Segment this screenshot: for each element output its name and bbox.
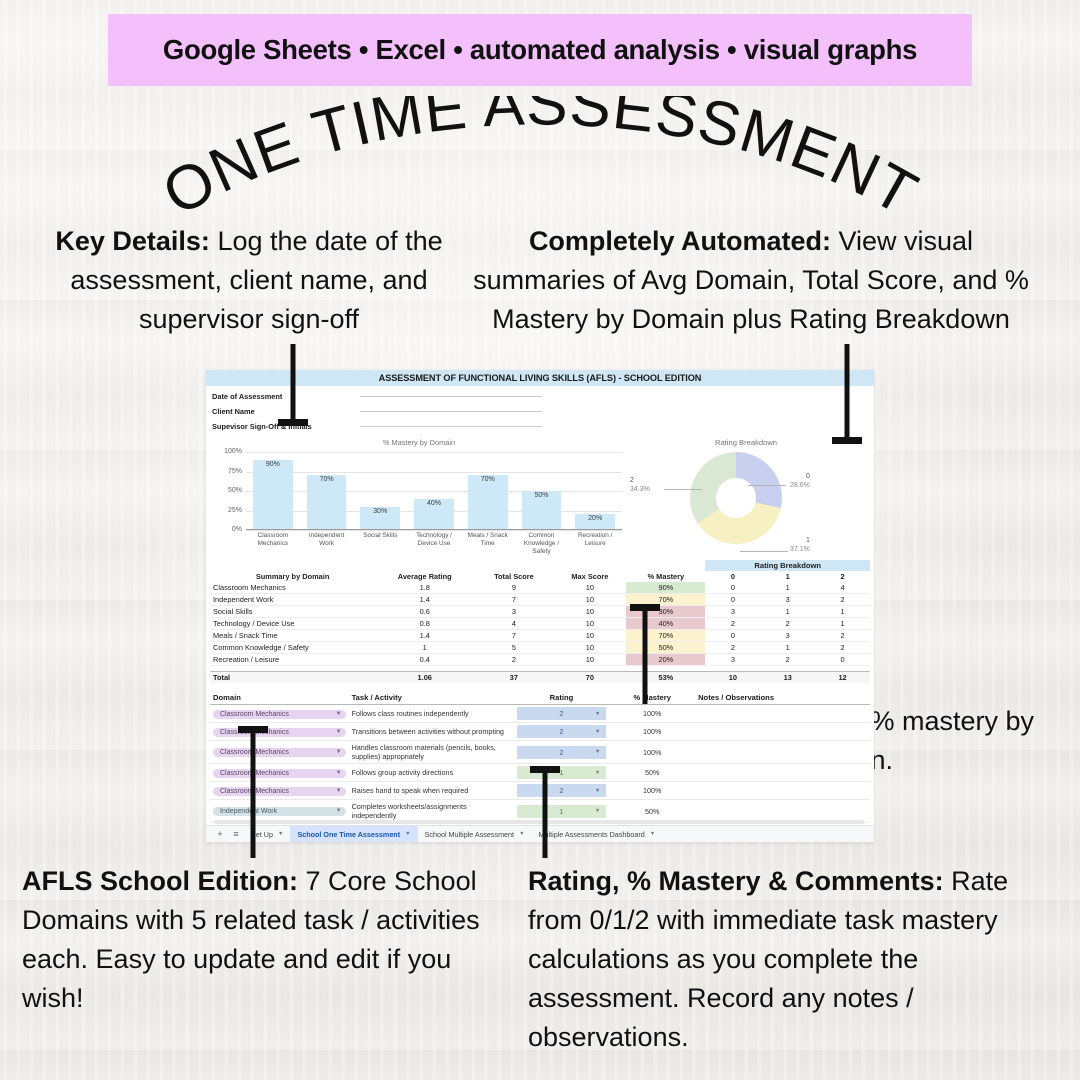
- x-axis-label: Recreation / Leisure: [568, 530, 622, 556]
- summary-cell-r2: 1: [815, 606, 870, 618]
- chevron-down-icon[interactable]: ▼: [336, 711, 342, 717]
- bar: 70%: [468, 475, 508, 530]
- summary-cell-max: 10: [554, 618, 627, 630]
- summary-cell-domain: Common Knowledge / Safety: [210, 642, 375, 654]
- summary-row[interactable]: Technology / Device Use0.841040%221: [210, 618, 870, 630]
- sheet-tab-school-one-time-assessment[interactable]: School One Time Assessment▼: [290, 826, 417, 843]
- pointer-completely-automated: [832, 344, 862, 444]
- task-cell-rating[interactable]: 2▼: [514, 705, 610, 723]
- summary-cell-r1: 1: [760, 642, 815, 654]
- gridline: [246, 530, 622, 531]
- donut-slice-key: 1: [790, 536, 810, 545]
- summary-table: Rating Breakdown Summary by Domain Avera…: [210, 560, 870, 683]
- task-row[interactable]: Classroom Mechanics▼Handles classroom ma…: [210, 741, 870, 764]
- summary-cell-total: 7: [474, 594, 553, 606]
- donut-leader-line: [664, 489, 702, 490]
- bar: 40%: [414, 499, 454, 530]
- y-axis-tick: 75%: [210, 468, 242, 475]
- summary-cell-max: 10: [554, 606, 627, 618]
- rating-value: 2: [559, 748, 563, 757]
- svg-text:ONE TIME ASSESSMENT: ONE TIME ASSESSMENT: [152, 96, 929, 226]
- summary-col-max: Max Score: [554, 571, 627, 582]
- summary-row[interactable]: Recreation / Leisure0.421020%320: [210, 654, 870, 666]
- bar-chart-xlabels: Classroom MechanicsIndependent WorkSocia…: [246, 530, 622, 556]
- summary-cell-r2: 2: [815, 642, 870, 654]
- annotation-key-details-bold: Key Details:: [55, 226, 210, 256]
- info-input-client[interactable]: [360, 411, 542, 412]
- donut-slice-key: 0: [790, 472, 810, 481]
- rating-value: 2: [559, 727, 563, 736]
- summary-cell-r2: 1: [815, 618, 870, 630]
- summary-cell-r2: 0: [815, 654, 870, 666]
- task-cell-mastery: 100%: [609, 741, 695, 764]
- task-cell-activity: Follows class routines independently: [349, 705, 514, 723]
- charts-band: % Mastery by Domain 100%75%50%25%0% 90%7…: [206, 436, 874, 556]
- pointer-key-details: [278, 344, 308, 426]
- summary-cell-domain: Classroom Mechanics: [210, 582, 375, 594]
- task-cell-domain[interactable]: Classroom Mechanics▼: [210, 705, 349, 723]
- bar-cell: 90%: [246, 452, 300, 530]
- summary-cell-max: 10: [554, 582, 627, 594]
- summary-cell-avg: 0.8: [375, 618, 474, 630]
- task-cell-notes[interactable]: [695, 723, 870, 741]
- y-axis-tick: 50%: [210, 487, 242, 494]
- chevron-down-icon[interactable]: ▼: [336, 749, 342, 755]
- summary-row[interactable]: Social Skills0.631030%311: [210, 606, 870, 618]
- summary-table-body: Classroom Mechanics1.891090%014Independe…: [210, 582, 870, 683]
- donut-chart[interactable]: Rating Breakdown 028.6%137.1%234.3%: [628, 436, 864, 556]
- task-cell-notes[interactable]: [695, 782, 870, 800]
- rating-dropdown[interactable]: 2▼: [517, 746, 607, 759]
- banner-text: Google Sheets • Excel • automated analys…: [163, 34, 917, 66]
- task-row[interactable]: Classroom Mechanics▼Follows class routin…: [210, 705, 870, 723]
- annotation-completely-automated: Completely Automated: View visual summar…: [466, 222, 1036, 339]
- summary-cell-r2: 4: [815, 582, 870, 594]
- summary-cell-avg: 1.4: [375, 630, 474, 642]
- summary-cell-total: 7: [474, 630, 553, 642]
- task-col-domain: Domain: [210, 691, 349, 705]
- domain-chip-label: Classroom Mechanics: [220, 711, 289, 718]
- summary-table-wrap: Rating Breakdown Summary by Domain Avera…: [210, 560, 870, 683]
- summary-cell-domain: Recreation / Leisure: [210, 654, 375, 666]
- summary-cell-max: 10: [554, 654, 627, 666]
- chevron-down-icon[interactable]: ▼: [336, 770, 342, 776]
- x-axis-label: Meals / Snack Time: [461, 530, 515, 556]
- chevron-down-icon[interactable]: ▼: [595, 770, 600, 776]
- summary-cell-avg: 1.8: [375, 582, 474, 594]
- summary-row[interactable]: Common Knowledge / Safety151050%212: [210, 642, 870, 654]
- task-cell-activity: Follows group activity directions: [349, 764, 514, 782]
- summary-col-r1: 1: [760, 571, 815, 582]
- chevron-down-icon[interactable]: ▼: [278, 831, 283, 837]
- domain-dropdown-chip[interactable]: Classroom Mechanics▼: [213, 710, 346, 719]
- summary-cell-avg: 1.4: [375, 594, 474, 606]
- total-cell-r2: 12: [815, 672, 870, 684]
- donut-chart-title: Rating Breakdown: [628, 438, 864, 447]
- bar-cell: 40%: [407, 452, 461, 530]
- task-cell-mastery: 100%: [609, 782, 695, 800]
- task-cell-domain[interactable]: Classroom Mechanics▼: [210, 741, 349, 764]
- summary-cell-avg: 0.4: [375, 654, 474, 666]
- top-banner: Google Sheets • Excel • automated analys…: [108, 14, 972, 86]
- summary-col-r0: 0: [705, 571, 760, 582]
- info-input-supervisor[interactable]: [360, 426, 542, 427]
- summary-group-header-row: Rating Breakdown: [210, 560, 870, 571]
- summary-row[interactable]: Meals / Snack Time1.471070%032: [210, 630, 870, 642]
- summary-cell-r0: 3: [705, 654, 760, 666]
- bar: 50%: [522, 491, 562, 530]
- donut-slice-percent: 37.1%: [790, 546, 810, 553]
- x-axis-label: Classroom Mechanics: [246, 530, 300, 556]
- domain-dropdown-chip[interactable]: Classroom Mechanics▼: [213, 769, 346, 778]
- summary-cell-r1: 1: [760, 606, 815, 618]
- summary-cell-avg: 0.6: [375, 606, 474, 618]
- summary-row[interactable]: Independent Work1.471070%032: [210, 594, 870, 606]
- task-cell-domain[interactable]: Classroom Mechanics▼: [210, 764, 349, 782]
- task-cell-rating[interactable]: 2▼: [514, 782, 610, 800]
- summary-cell-max: 10: [554, 594, 627, 606]
- info-row[interactable]: Date of Assessment: [212, 389, 868, 404]
- bar-chart[interactable]: % Mastery by Domain 100%75%50%25%0% 90%7…: [210, 436, 628, 556]
- summary-cell-domain: Independent Work: [210, 594, 375, 606]
- summary-col-r2: 2: [815, 571, 870, 582]
- donut-slice-label: 234.3%: [630, 476, 650, 494]
- task-col-activity: Task / Activity: [349, 691, 514, 705]
- summary-cell-r1: 3: [760, 630, 815, 642]
- pointer-auto-coloring: [630, 604, 660, 704]
- donut-slice-key: 2: [630, 476, 650, 485]
- summary-row[interactable]: Classroom Mechanics1.891090%014: [210, 582, 870, 594]
- domain-dropdown-chip[interactable]: Classroom Mechanics▼: [213, 748, 346, 757]
- summary-col-mastery: % Mastery: [626, 571, 705, 582]
- summary-cell-r0: 0: [705, 594, 760, 606]
- chevron-down-icon[interactable]: ▼: [405, 831, 410, 837]
- task-cell-rating[interactable]: 2▼: [514, 741, 610, 764]
- summary-cell-total: 4: [474, 618, 553, 630]
- bar-chart-title: % Mastery by Domain: [210, 438, 628, 447]
- task-cell-activity: Transitions between activities without p…: [349, 723, 514, 741]
- chevron-down-icon[interactable]: ▼: [595, 808, 600, 814]
- summary-total-row: Total1.06377053%101312: [210, 672, 870, 684]
- bar: 30%: [360, 507, 400, 530]
- x-axis-label: Independent Work: [300, 530, 354, 556]
- bar-cell: 30%: [353, 452, 407, 530]
- bar-chart-bars: 90%70%30%40%70%50%20%: [246, 452, 622, 530]
- chevron-down-icon[interactable]: ▼: [336, 729, 342, 735]
- summary-cell-avg: 1: [375, 642, 474, 654]
- chevron-down-icon[interactable]: ▼: [595, 749, 600, 755]
- summary-cell-domain: Technology / Device Use: [210, 618, 375, 630]
- task-cell-notes[interactable]: [695, 741, 870, 764]
- chevron-down-icon[interactable]: ▼: [595, 711, 600, 717]
- annotation-afls-school-edition: AFLS School Edition: 7 Core School Domai…: [22, 862, 492, 1018]
- annotation-rating-bold: Rating, % Mastery & Comments:: [528, 866, 944, 896]
- summary-cell-r1: 2: [760, 654, 815, 666]
- summary-cell-total: 5: [474, 642, 553, 654]
- total-cell-label: Total: [210, 672, 375, 684]
- domain-dropdown-chip[interactable]: Independent Work▼: [213, 807, 346, 816]
- donut-leader-line: [748, 485, 786, 486]
- summary-cell-domain: Meals / Snack Time: [210, 630, 375, 642]
- bar: 20%: [575, 514, 615, 530]
- summary-col-avg: Average Rating: [375, 571, 474, 582]
- task-cell-domain[interactable]: Classroom Mechanics▼: [210, 782, 349, 800]
- total-cell-r1: 13: [760, 672, 815, 684]
- task-cell-rating[interactable]: 2▼: [514, 723, 610, 741]
- donut-slice-label: 137.1%: [790, 536, 810, 554]
- chevron-down-icon[interactable]: ▼: [650, 831, 655, 837]
- chevron-down-icon[interactable]: ▼: [519, 831, 524, 837]
- summary-cell-r1: 1: [760, 582, 815, 594]
- domain-dropdown-chip[interactable]: Classroom Mechanics▼: [213, 728, 346, 737]
- task-cell-mastery: 100%: [609, 723, 695, 741]
- summary-cell-domain: Social Skills: [210, 606, 375, 618]
- headline-arch: ONE TIME ASSESSMENT: [0, 96, 1080, 226]
- task-cell-activity: Handles classroom materials (pencils, bo…: [349, 741, 514, 764]
- sheet-tabs: Set Up▼School One Time Assessment▼School…: [244, 826, 662, 843]
- task-cell-rating[interactable]: 1▼: [514, 764, 610, 782]
- x-axis-label: Technology / Device Use: [407, 530, 461, 556]
- rating-breakdown-group-header: Rating Breakdown: [705, 560, 870, 571]
- pointer-afls-school-edition: [238, 726, 268, 858]
- sheet-tab-label: School Multiple Assessment: [425, 830, 515, 839]
- task-cell-mastery: 50%: [609, 764, 695, 782]
- y-axis-tick: 25%: [210, 507, 242, 514]
- annotation-afls-bold: AFLS School Edition:: [22, 866, 298, 896]
- task-col-rating: Rating: [514, 691, 610, 705]
- bar-cell: 20%: [568, 452, 622, 530]
- summary-col-total: Total Score: [474, 571, 553, 582]
- info-input-date[interactable]: [360, 396, 542, 397]
- chevron-down-icon[interactable]: ▼: [336, 808, 342, 814]
- task-row[interactable]: Classroom Mechanics▼Transitions between …: [210, 723, 870, 741]
- total-cell-r0: 10: [705, 672, 760, 684]
- x-axis-label: Social Skills: [353, 530, 407, 556]
- bar: 90%: [253, 460, 293, 530]
- summary-cell-r1: 2: [760, 618, 815, 630]
- add-sheet-icon[interactable]: +: [212, 829, 228, 839]
- rating-dropdown[interactable]: 2▼: [517, 707, 607, 720]
- rating-dropdown[interactable]: 2▼: [517, 725, 607, 738]
- summary-cell-r1: 3: [760, 594, 815, 606]
- summary-cell-max: 10: [554, 630, 627, 642]
- donut-chart-ring: [690, 452, 782, 544]
- bar: 70%: [307, 475, 347, 530]
- pointer-rating-mastery: [530, 766, 560, 858]
- bar-chart-xaxis: [246, 529, 622, 530]
- bar-cell: 70%: [300, 452, 354, 530]
- sheet-tab-school-multiple-assessment[interactable]: School Multiple Assessment▼: [418, 826, 532, 843]
- donut-slice-label: 028.6%: [790, 472, 810, 490]
- domain-dropdown-chip[interactable]: Classroom Mechanics▼: [213, 787, 346, 796]
- annotation-rating-mastery-comments: Rating, % Mastery & Comments: Rate from …: [528, 862, 1068, 1056]
- summary-cell-total: 9: [474, 582, 553, 594]
- sheet-tab-label: School One Time Assessment: [297, 830, 400, 839]
- summary-cell-r0: 3: [705, 606, 760, 618]
- x-axis-label: Common Knowledge / Safety: [515, 530, 569, 556]
- task-cell-notes[interactable]: [695, 764, 870, 782]
- summary-cell-mastery: 90%: [626, 582, 705, 594]
- bar-cell: 70%: [461, 452, 515, 530]
- summary-cell-r0: 2: [705, 642, 760, 654]
- donut-leader-line: [740, 551, 788, 552]
- summary-cell-total: 2: [474, 654, 553, 666]
- y-axis-tick: 100%: [210, 448, 242, 455]
- info-row[interactable]: Client Name: [212, 404, 868, 419]
- total-cell-avg: 1.06: [375, 672, 474, 684]
- task-header-row: Domain Task / Activity Rating % Mastery …: [210, 691, 870, 705]
- annotation-key-details: Key Details: Log the date of the assessm…: [14, 222, 484, 339]
- bar-cell: 50%: [515, 452, 569, 530]
- rating-value: 2: [559, 709, 563, 718]
- summary-cell-r0: 0: [705, 582, 760, 594]
- total-cell-max: 70: [554, 672, 627, 684]
- summary-cell-r2: 2: [815, 630, 870, 642]
- donut-slice-percent: 34.3%: [630, 486, 650, 493]
- bar-chart-plot: 100%75%50%25%0% 90%70%30%40%70%50%20%: [210, 452, 628, 530]
- summary-cell-r0: 2: [705, 618, 760, 630]
- summary-cell-r2: 2: [815, 594, 870, 606]
- summary-header-row: Summary by Domain Average Rating Total S…: [210, 571, 870, 582]
- annotation-completely-automated-bold: Completely Automated:: [529, 226, 831, 256]
- summary-cell-r0: 0: [705, 630, 760, 642]
- summary-col-domain: Summary by Domain: [210, 571, 375, 582]
- task-cell-notes[interactable]: [695, 705, 870, 723]
- task-cell-activity: Raises hand to speak when required: [349, 782, 514, 800]
- task-cell-domain[interactable]: Classroom Mechanics▼: [210, 723, 349, 741]
- donut-slice-percent: 28.6%: [790, 482, 810, 489]
- chevron-down-icon[interactable]: ▼: [336, 788, 342, 794]
- chevron-down-icon[interactable]: ▼: [595, 729, 600, 735]
- chevron-down-icon[interactable]: ▼: [595, 788, 600, 794]
- task-cell-mastery: 100%: [609, 705, 695, 723]
- total-cell-total: 37: [474, 672, 553, 684]
- y-axis-tick: 0%: [210, 526, 242, 533]
- task-col-notes: Notes / Observations: [695, 691, 870, 705]
- info-row[interactable]: Supevisor Sign-Off & Initials: [212, 419, 868, 434]
- summary-cell-max: 10: [554, 642, 627, 654]
- summary-cell-total: 3: [474, 606, 553, 618]
